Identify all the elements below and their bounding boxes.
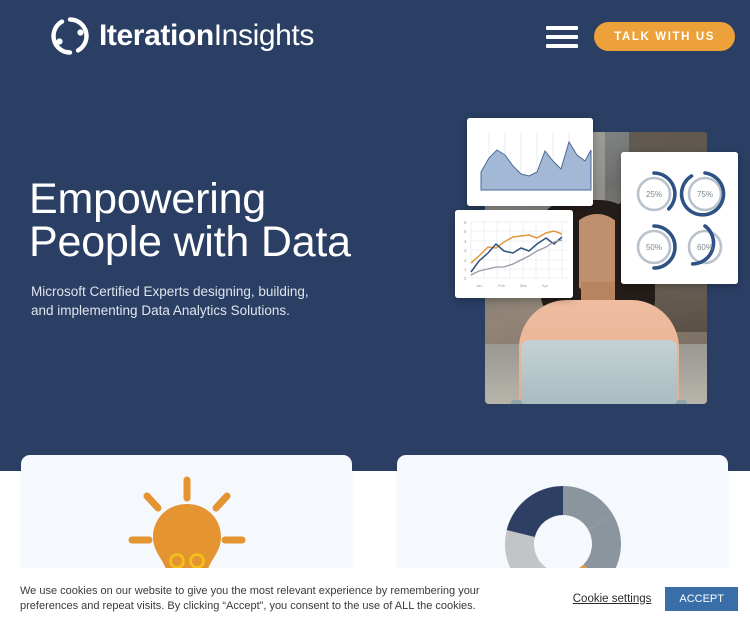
brand-wordmark: IterationInsights [99,21,314,51]
site-header: IterationInsights TALK WITH US [0,0,750,72]
hamburger-menu-icon[interactable] [546,24,578,50]
hero-title: Empowering People with Data [29,178,429,264]
hero-section: IterationInsights TALK WITH US Empowerin… [0,0,750,471]
header-actions: TALK WITH US [546,22,735,51]
gauge-25-label: 25% [646,190,662,199]
hamburger-bar [546,44,578,48]
line-chart-card: 654 321 0 JanFeb MarApr [455,210,573,298]
cookie-banner-text: We use cookies on our website to give yo… [20,584,510,612]
laptop-lid [521,340,677,404]
hamburger-bar [546,35,578,39]
cookie-accept-button[interactable]: ACCEPT [665,587,738,611]
gauge-grid-svg: 25% 75% 50% 60% [621,152,738,284]
hamburger-bar [546,26,578,30]
circle-split-logo-icon [50,16,90,56]
hero-subtitle: Microsoft Certified Experts designing, b… [31,282,429,320]
gauge-60-label: 60% [697,243,713,252]
svg-text:Feb: Feb [498,283,506,288]
brand-name-light: Insights [214,19,314,52]
svg-text:Jan: Jan [476,283,482,288]
line-chart-svg: 654 321 0 JanFeb MarApr [455,210,573,298]
hero-copy: Empowering People with Data Microsoft Ce… [29,178,429,320]
cookie-consent-banner: We use cookies on our website to give yo… [0,568,750,628]
gauge-75-label: 75% [697,190,713,199]
donut-segment-navy [506,486,562,537]
hero-collage: 654 321 0 JanFeb MarApr 2 [453,112,738,397]
area-chart-svg [467,118,593,206]
brand-name-bold: Iteration [99,19,214,52]
cookie-banner-actions: Cookie settings ACCEPT [573,587,738,611]
brand-logo[interactable]: IterationInsights [50,16,314,56]
talk-with-us-button[interactable]: TALK WITH US [594,22,735,51]
cookie-settings-link[interactable]: Cookie settings [573,593,652,605]
area-chart-card [467,118,593,206]
svg-text:Mar: Mar [520,283,528,288]
gauge-50-label: 50% [646,243,662,252]
svg-text:Apr: Apr [542,283,549,288]
gauge-card: 25% 75% 50% 60% [621,152,738,284]
